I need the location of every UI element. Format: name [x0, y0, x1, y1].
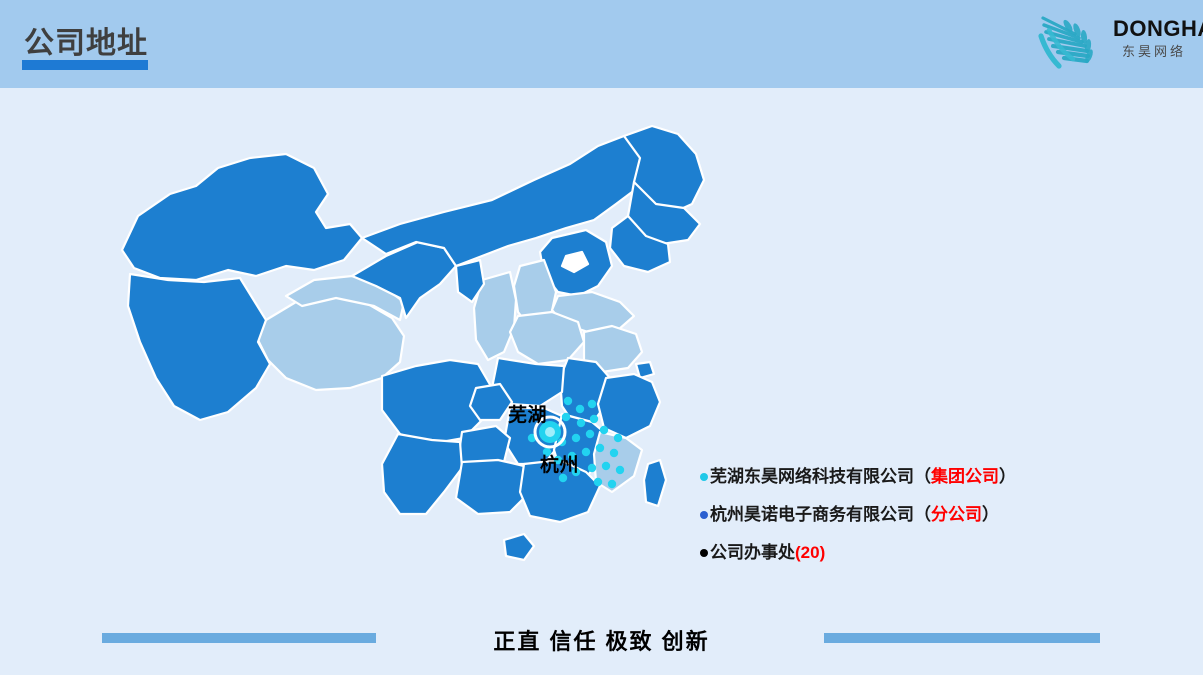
province-yunnan	[382, 434, 462, 514]
logo-wordmark: DONGHAO 东昊网络	[1113, 18, 1195, 58]
legend-note: 集团公司	[931, 467, 999, 486]
legend-label: 公司办事处	[710, 543, 795, 562]
logo-name: DONGHAO	[1113, 18, 1195, 40]
title-underline-accent	[22, 60, 148, 70]
map-label-hangzhou: 杭州	[540, 450, 579, 477]
china-map-svg	[100, 120, 720, 600]
legend-label: 芜湖东昊网络科技有限公司	[710, 467, 914, 486]
province-xinjiang	[122, 154, 362, 280]
map-label-wuhu: 芜湖	[508, 400, 547, 427]
province-tibet-west	[128, 274, 270, 420]
logo-subtitle: 东昊网络	[1113, 45, 1195, 58]
page-title: 公司地址	[24, 18, 148, 62]
footer-bar-right	[824, 633, 1100, 643]
legend-branch-company: 杭州昊诺电子商务有限公司（分公司）	[700, 496, 1120, 534]
legend-paren-open: （	[914, 505, 931, 524]
legend-paren-close: ）	[982, 505, 999, 524]
province-henan	[510, 312, 584, 364]
province-hainan	[504, 534, 534, 560]
slide-company-address: 公司地址	[0, 0, 1203, 675]
legend-note: (20)	[795, 543, 825, 562]
legend-bullet-icon	[700, 549, 708, 557]
legend-paren-close: ）	[999, 467, 1016, 486]
legend-bullet-icon	[700, 473, 708, 481]
slide-header: 公司地址	[0, 0, 1203, 88]
company-logo: DONGHAO 东昊网络	[1013, 6, 1191, 78]
fan-feather-icon	[1035, 8, 1113, 74]
legend: 芜湖东昊网络科技有限公司（集团公司） 杭州昊诺电子商务有限公司（分公司） 公司办…	[700, 458, 1120, 572]
legend-note: 分公司	[931, 505, 982, 524]
legend-bullet-icon	[700, 511, 708, 519]
legend-label: 杭州昊诺电子商务有限公司	[710, 505, 914, 524]
province-taiwan	[644, 460, 666, 506]
china-map[interactable]: 芜湖 杭州	[100, 120, 720, 600]
legend-group-company: 芜湖东昊网络科技有限公司（集团公司）	[700, 458, 1120, 496]
legend-offices: 公司办事处(20)	[700, 534, 1120, 572]
province-guangxi	[456, 460, 530, 514]
legend-paren-open: （	[914, 467, 931, 486]
